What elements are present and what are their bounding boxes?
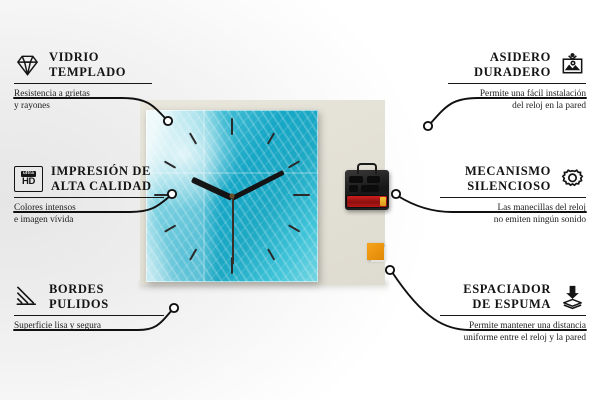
ultra-hd-icon: ultra HD [14, 166, 43, 192]
title-underline [440, 315, 586, 317]
hanging-frame-icon [559, 52, 586, 78]
title-underline [440, 197, 586, 199]
mechanism-battery [347, 196, 387, 207]
mechanism-housing-details [349, 176, 385, 192]
connector-dot-mecanismo [392, 190, 400, 198]
title-underline [14, 315, 164, 317]
feature-subtitle: Colores intensos e imagen vívida [14, 202, 164, 227]
gear-icon [559, 166, 586, 192]
mechanism-hanger-hook [357, 163, 377, 174]
feature-title: VIDRIO TEMPLADO [49, 50, 126, 80]
title-underline [448, 83, 586, 85]
infographic-canvas: VIDRIO TEMPLADO Resistencia a grietas y … [0, 0, 600, 400]
connector-dot-asidero [424, 122, 432, 130]
wall-clock-product [146, 110, 318, 282]
battery-positive-terminal [380, 197, 386, 206]
clock-mechanism [345, 170, 389, 210]
feature-subtitle: Las manecillas del reloj no emiten ningú… [440, 202, 586, 227]
feature-title: ASIDERO DURADERO [474, 50, 551, 80]
feature-subtitle: Resistencia a grietas y rayones [14, 88, 152, 113]
feature-bordes-pulidos: BORDES PULIDOS Superficie lisa y segura [14, 282, 164, 332]
feature-asidero-duradero: ASIDERO DURADERO Permite una fácil insta… [448, 50, 586, 113]
title-underline [14, 197, 164, 199]
feature-title: MECANISMO SILENCIOSO [465, 164, 551, 194]
feature-title: BORDES PULIDOS [49, 282, 109, 312]
feature-impresion-alta-calidad: ultra HD IMPRESIÓN DE ALTA CALIDAD Color… [14, 164, 164, 227]
clock-second-hand [232, 196, 234, 264]
connector-dot-bordes [170, 304, 178, 312]
feature-subtitle: Superficie lisa y segura [14, 320, 164, 332]
feature-subtitle: Permite una fácil instalación del reloj … [448, 88, 586, 113]
foam-spacer-icon [559, 284, 586, 310]
feature-mecanismo-silencioso: MECANISMO SILENCIOSO Las manecillas del … [440, 164, 586, 227]
polished-edge-icon [14, 284, 41, 310]
diamond-icon [14, 52, 41, 78]
feature-vidrio-templado: VIDRIO TEMPLADO Resistencia a grietas y … [14, 50, 152, 113]
feature-title: IMPRESIÓN DE ALTA CALIDAD [51, 164, 152, 194]
clock-center-pin [230, 194, 235, 199]
foam-spacer-part [367, 243, 384, 260]
connector-dot-espaciador [386, 266, 394, 274]
title-underline [14, 83, 152, 85]
feature-title: ESPACIADOR DE ESPUMA [463, 282, 551, 312]
feature-subtitle: Permite mantener una distancia uniforme … [440, 320, 586, 345]
feature-espaciador-espuma: ESPACIADOR DE ESPUMA Permite mantener un… [440, 282, 586, 345]
